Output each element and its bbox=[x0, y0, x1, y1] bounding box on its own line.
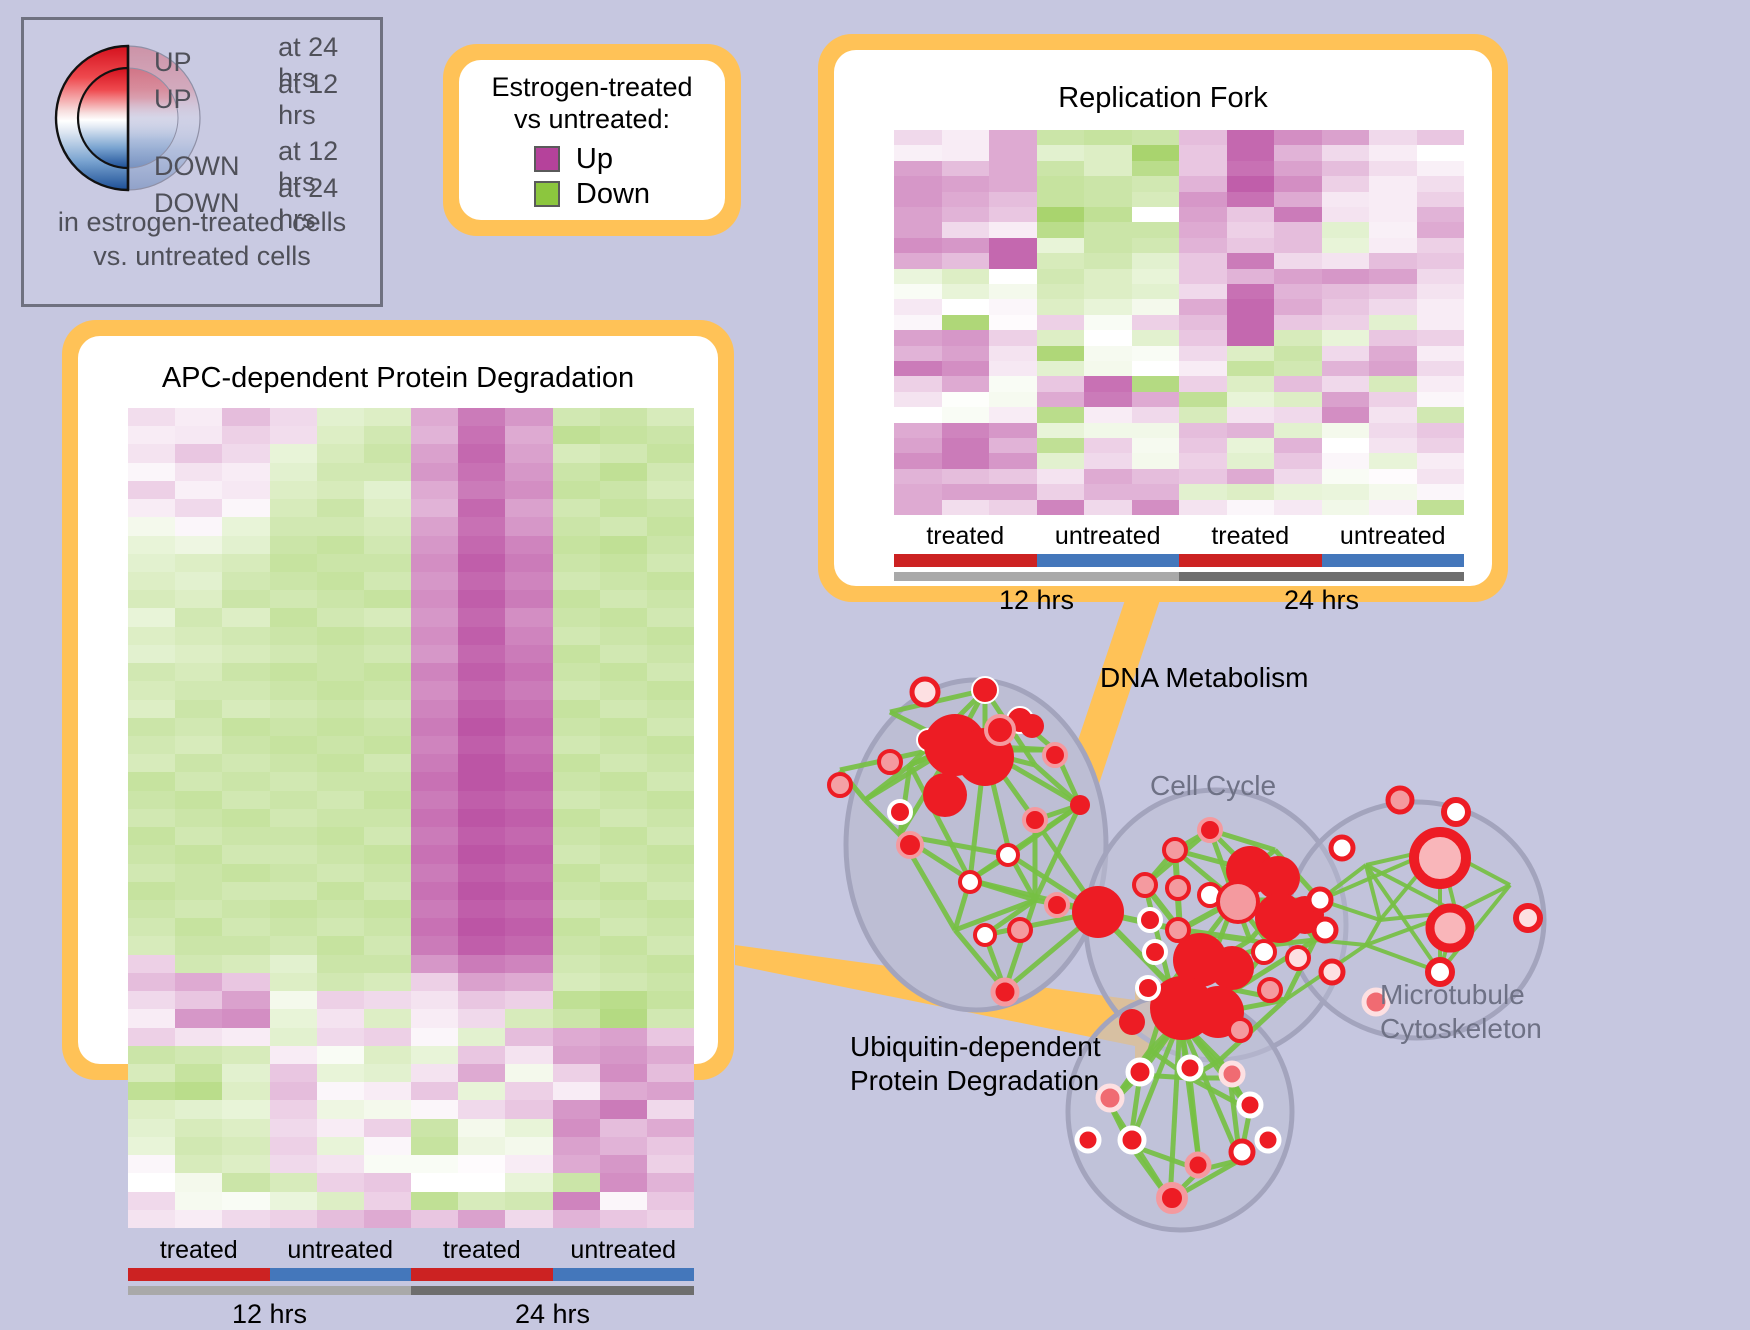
heatmap-cell bbox=[1227, 453, 1275, 468]
up-down-legend-title: Estrogen-treated vs untreated: bbox=[491, 72, 692, 136]
heatmap-cell bbox=[175, 718, 222, 736]
heatmap-cell bbox=[317, 700, 364, 718]
heatmap-cell bbox=[175, 1192, 222, 1210]
heatmap-cell bbox=[175, 681, 222, 699]
heatmap-cell bbox=[1369, 315, 1417, 330]
heatmap-cell bbox=[553, 736, 600, 754]
heatmap-cell bbox=[317, 718, 364, 736]
legend-item-up: Up bbox=[534, 142, 650, 177]
group-label: untreated bbox=[1037, 522, 1180, 551]
heatmap-cell bbox=[894, 453, 942, 468]
heatmap-cell bbox=[1369, 346, 1417, 361]
functional-module-network: DNA Metabolism Cell Cycle Microtubule Cy… bbox=[780, 600, 1750, 1279]
heatmap-cell bbox=[505, 973, 552, 991]
heatmap-cell bbox=[222, 1064, 269, 1082]
heatmap-cell bbox=[222, 645, 269, 663]
heatmap-cell bbox=[458, 1119, 505, 1137]
heatmap-cell bbox=[1037, 361, 1085, 376]
heatmap-cell bbox=[364, 1064, 411, 1082]
heatmap-cell bbox=[647, 718, 694, 736]
heatmap-cell bbox=[505, 444, 552, 462]
heatmap-cell bbox=[505, 463, 552, 481]
heatmap-cell bbox=[222, 900, 269, 918]
heatmap-cell bbox=[600, 882, 647, 900]
heatmap-cell bbox=[222, 1137, 269, 1155]
heatmap-cell bbox=[1037, 192, 1085, 207]
heatmap-cell bbox=[175, 608, 222, 626]
heatmap-cell bbox=[1179, 176, 1227, 191]
heatmap-cell bbox=[1322, 207, 1370, 222]
heatmap-cell bbox=[1274, 238, 1322, 253]
network-node bbox=[1331, 837, 1353, 859]
heatmap-cell bbox=[175, 444, 222, 462]
heatmap-cell bbox=[270, 1064, 317, 1082]
heatmap-cell bbox=[553, 608, 600, 626]
heatmap-cell bbox=[553, 973, 600, 991]
heatmap-cell bbox=[411, 772, 458, 790]
heatmap-cell bbox=[1132, 376, 1180, 391]
network-node bbox=[1044, 744, 1066, 766]
heatmap-cell bbox=[128, 1046, 175, 1064]
heatmap-cell bbox=[553, 827, 600, 845]
heatmap-cell bbox=[458, 845, 505, 863]
heatmap-cell bbox=[317, 1064, 364, 1082]
heatmap-cell bbox=[989, 315, 1037, 330]
heatmap-cell bbox=[1322, 315, 1370, 330]
heatmap-cell bbox=[1084, 423, 1132, 438]
heatmap-cell bbox=[600, 991, 647, 1009]
heatmap-cell bbox=[411, 517, 458, 535]
time-label: 24 hrs bbox=[411, 1299, 694, 1330]
heatmap-cell bbox=[1179, 130, 1227, 145]
heatmap-cell bbox=[647, 627, 694, 645]
heatmap-cell bbox=[894, 407, 942, 422]
heatmap-cell bbox=[175, 754, 222, 772]
group-label: treated bbox=[128, 1236, 270, 1265]
heatmap-cell bbox=[1274, 222, 1322, 237]
heatmap-cell bbox=[1227, 284, 1275, 299]
heatmap-cell bbox=[1322, 330, 1370, 345]
heatmap-cell bbox=[505, 499, 552, 517]
heatmap-cell bbox=[1084, 330, 1132, 345]
heatmap-cell bbox=[411, 1192, 458, 1210]
heatmap-cell bbox=[364, 918, 411, 936]
heatmap-cell bbox=[1417, 299, 1465, 314]
heatmap-cell bbox=[1227, 176, 1275, 191]
heatmap-cell bbox=[600, 900, 647, 918]
heatmap-cell bbox=[270, 936, 317, 954]
heatmap-cell bbox=[1417, 269, 1465, 284]
heatmap-cell bbox=[364, 1082, 411, 1100]
heatmap-cell bbox=[647, 608, 694, 626]
heatmap-cell bbox=[1322, 438, 1370, 453]
heatmap-cell bbox=[553, 426, 600, 444]
expression-key-legend: UP at 24 hrs UP at 12 hrs DOWN at 12 hrs… bbox=[21, 17, 383, 307]
heatmap-cell bbox=[1084, 315, 1132, 330]
heatmap-cell bbox=[1179, 346, 1227, 361]
heatmap-cell bbox=[458, 973, 505, 991]
heatmap-cell bbox=[411, 1009, 458, 1027]
heatmap-cell bbox=[175, 1210, 222, 1228]
heatmap-cell bbox=[647, 864, 694, 882]
heatmap-cell bbox=[1369, 192, 1417, 207]
heatmap-cell bbox=[222, 444, 269, 462]
heatmap-cell bbox=[1369, 161, 1417, 176]
heatmap-cell bbox=[1417, 469, 1465, 484]
heatmap-cell bbox=[1417, 330, 1465, 345]
key-time: at 12 hrs bbox=[278, 69, 380, 131]
heatmap-cell bbox=[364, 772, 411, 790]
heatmap-cell bbox=[647, 900, 694, 918]
heatmap-cell bbox=[1227, 438, 1275, 453]
heatmap-cell bbox=[270, 718, 317, 736]
heatmap-cell bbox=[458, 408, 505, 426]
heatmap-cell bbox=[1132, 269, 1180, 284]
heatmap-cell bbox=[647, 700, 694, 718]
heatmap-cell bbox=[1417, 253, 1465, 268]
heatmap-cell bbox=[1369, 130, 1417, 145]
heatmap-cell bbox=[222, 663, 269, 681]
heatmap-cell bbox=[458, 936, 505, 954]
network-node bbox=[986, 716, 1014, 744]
heatmap-cell bbox=[505, 645, 552, 663]
heatmap-cell bbox=[1274, 453, 1322, 468]
heatmap-cell bbox=[270, 736, 317, 754]
heatmap-cell bbox=[128, 1082, 175, 1100]
key-row: UP at 12 hrs bbox=[154, 81, 380, 118]
network-node bbox=[1164, 839, 1186, 861]
heatmap-cell bbox=[1274, 269, 1322, 284]
heatmap-cell bbox=[1084, 469, 1132, 484]
heatmap-cell bbox=[175, 590, 222, 608]
heatmap-cell bbox=[647, 955, 694, 973]
network-node bbox=[1287, 947, 1309, 969]
heatmap-cell bbox=[1274, 469, 1322, 484]
heatmap-cell bbox=[553, 936, 600, 954]
heatmap-cell bbox=[647, 645, 694, 663]
heatmap-cell bbox=[270, 481, 317, 499]
heatmap-cell bbox=[317, 517, 364, 535]
heatmap-cell bbox=[222, 809, 269, 827]
heatmap-cell bbox=[411, 1173, 458, 1191]
heatmap-cell bbox=[553, 718, 600, 736]
heatmap-cell bbox=[1037, 161, 1085, 176]
legend-item-down-label: Down bbox=[576, 178, 650, 211]
heatmap-cell bbox=[364, 809, 411, 827]
heatmap-cell bbox=[1037, 176, 1085, 191]
heatmap-cell bbox=[411, 1119, 458, 1137]
apc-dependent-sample-bands: treated untreated treated untreated 12 h… bbox=[128, 1236, 694, 1330]
heatmap-cell bbox=[942, 330, 990, 345]
network-node bbox=[1321, 961, 1343, 983]
heatmap-cell bbox=[600, 1046, 647, 1064]
group-color-treated bbox=[894, 554, 1037, 567]
heatmap-cell bbox=[1274, 299, 1322, 314]
heatmap-cell bbox=[989, 130, 1037, 145]
heatmap-cell bbox=[411, 663, 458, 681]
heatmap-cell bbox=[1037, 346, 1085, 361]
heatmap-cell bbox=[270, 627, 317, 645]
heatmap-cell bbox=[647, 1119, 694, 1137]
heatmap-cell bbox=[1084, 438, 1132, 453]
heatmap-cell bbox=[1322, 376, 1370, 391]
heatmap-cell bbox=[894, 392, 942, 407]
heatmap-cell bbox=[411, 736, 458, 754]
heatmap-cell bbox=[894, 222, 942, 237]
heatmap-cell bbox=[1179, 500, 1227, 515]
heatmap-cell bbox=[411, 700, 458, 718]
heatmap-cell bbox=[1369, 330, 1417, 345]
time-color-24hrs bbox=[1179, 572, 1464, 581]
expression-key-rows: UP at 24 hrs UP at 12 hrs DOWN at 12 hrs… bbox=[154, 44, 380, 222]
heatmap-cell bbox=[175, 1137, 222, 1155]
heatmap-cell bbox=[128, 1028, 175, 1046]
heatmap-cell bbox=[942, 469, 990, 484]
heatmap-cell bbox=[317, 536, 364, 554]
heatmap-cell bbox=[942, 192, 990, 207]
heatmap-cell bbox=[317, 1210, 364, 1228]
heatmap-cell bbox=[647, 1192, 694, 1210]
heatmap-cell bbox=[600, 1009, 647, 1027]
heatmap-cell bbox=[647, 426, 694, 444]
heatmap-cell bbox=[1084, 407, 1132, 422]
heatmap-cell bbox=[222, 499, 269, 517]
heatmap-cell bbox=[317, 608, 364, 626]
heatmap-cell bbox=[270, 1137, 317, 1155]
network-node bbox=[1072, 886, 1124, 938]
heatmap-cell bbox=[1274, 207, 1322, 222]
heatmap-cell bbox=[175, 1173, 222, 1191]
heatmap-cell bbox=[1417, 315, 1465, 330]
heatmap-cell bbox=[1369, 238, 1417, 253]
heatmap-cell bbox=[942, 207, 990, 222]
network-node bbox=[1128, 1060, 1152, 1084]
heatmap-cell bbox=[505, 991, 552, 1009]
heatmap-cell bbox=[317, 463, 364, 481]
heatmap-cell bbox=[600, 1119, 647, 1137]
heatmap-cell bbox=[175, 1064, 222, 1082]
heatmap-cell bbox=[175, 700, 222, 718]
heatmap-cell bbox=[458, 1100, 505, 1118]
heatmap-cell bbox=[553, 1173, 600, 1191]
heatmap-cell bbox=[600, 1137, 647, 1155]
heatmap-cell bbox=[411, 590, 458, 608]
heatmap-cell bbox=[222, 463, 269, 481]
heatmap-cell bbox=[1037, 253, 1085, 268]
heatmap-cell bbox=[1417, 192, 1465, 207]
heatmap-cell bbox=[458, 499, 505, 517]
heatmap-cell bbox=[1227, 253, 1275, 268]
heatmap-cell bbox=[128, 517, 175, 535]
heatmap-cell bbox=[411, 718, 458, 736]
heatmap-cell bbox=[411, 481, 458, 499]
heatmap-cell bbox=[1179, 330, 1227, 345]
heatmap-cell bbox=[1084, 222, 1132, 237]
heatmap-cell bbox=[364, 1192, 411, 1210]
heatmap-cell bbox=[222, 991, 269, 1009]
heatmap-cell bbox=[1132, 176, 1180, 191]
heatmap-cell bbox=[411, 754, 458, 772]
heatmap-cell bbox=[128, 499, 175, 517]
heatmap-cell bbox=[600, 590, 647, 608]
heatmap-cell bbox=[989, 299, 1037, 314]
heatmap-cell bbox=[270, 444, 317, 462]
heatmap-cell bbox=[222, 1028, 269, 1046]
heatmap-cell bbox=[1179, 222, 1227, 237]
heatmap-cell bbox=[411, 499, 458, 517]
heatmap-cell bbox=[647, 1028, 694, 1046]
heatmap-cell bbox=[1179, 284, 1227, 299]
heatmap-cell bbox=[1084, 253, 1132, 268]
heatmap-cell bbox=[458, 663, 505, 681]
heatmap-cell bbox=[647, 444, 694, 462]
heatmap-cell bbox=[222, 1100, 269, 1118]
heatmap-cell bbox=[1417, 361, 1465, 376]
heatmap-cell bbox=[1179, 392, 1227, 407]
heatmap-cell bbox=[128, 864, 175, 882]
heatmap-cell bbox=[411, 1064, 458, 1082]
heatmap-cell bbox=[1369, 423, 1417, 438]
key-footer-line2: vs. untreated cells bbox=[24, 240, 380, 274]
heatmap-cell bbox=[222, 554, 269, 572]
heatmap-cell bbox=[1322, 392, 1370, 407]
group-color-untreated bbox=[270, 1268, 412, 1281]
group-label: untreated bbox=[553, 1236, 695, 1265]
heatmap-cell bbox=[553, 1192, 600, 1210]
heatmap-cell bbox=[505, 1155, 552, 1173]
heatmap-cell bbox=[1322, 238, 1370, 253]
heatmap-cell bbox=[1132, 253, 1180, 268]
heatmap-cell bbox=[270, 1028, 317, 1046]
network-svg bbox=[780, 600, 1750, 1279]
heatmap-cell bbox=[1274, 161, 1322, 176]
cluster-label-cell-cycle: Cell Cycle bbox=[1150, 770, 1276, 802]
heatmap-cell bbox=[222, 627, 269, 645]
heatmap-cell bbox=[411, 444, 458, 462]
heatmap-cell bbox=[128, 918, 175, 936]
heatmap-cell bbox=[553, 1119, 600, 1137]
heatmap-cell bbox=[505, 809, 552, 827]
cluster-label-line1: Ubiquitin-dependent bbox=[850, 1030, 1101, 1064]
heatmap-cell bbox=[270, 608, 317, 626]
heatmap-cell bbox=[553, 1100, 600, 1118]
heatmap-cell bbox=[128, 1155, 175, 1173]
heatmap-cell bbox=[942, 346, 990, 361]
heatmap-cell bbox=[1132, 423, 1180, 438]
heatmap-cell bbox=[1084, 346, 1132, 361]
heatmap-cell bbox=[600, 554, 647, 572]
heatmap-cell bbox=[1369, 361, 1417, 376]
heatmap-cell bbox=[553, 772, 600, 790]
heatmap-cell bbox=[989, 484, 1037, 499]
heatmap-cell bbox=[553, 1028, 600, 1046]
heatmap-cell bbox=[270, 1100, 317, 1118]
heatmap-cell bbox=[175, 1009, 222, 1027]
heatmap-cell bbox=[458, 1046, 505, 1064]
heatmap-cell bbox=[942, 284, 990, 299]
heatmap-cell bbox=[894, 330, 942, 345]
heatmap-cell bbox=[128, 718, 175, 736]
heatmap-cell bbox=[600, 444, 647, 462]
heatmap-cell bbox=[270, 1173, 317, 1191]
heatmap-cell bbox=[317, 754, 364, 772]
heatmap-cell bbox=[222, 772, 269, 790]
heatmap-cell bbox=[1274, 392, 1322, 407]
heatmap-cell bbox=[458, 590, 505, 608]
heatmap-cell bbox=[458, 1192, 505, 1210]
heatmap-cell bbox=[364, 973, 411, 991]
heatmap-cell bbox=[989, 284, 1037, 299]
heatmap-cell bbox=[270, 864, 317, 882]
heatmap-cell bbox=[647, 1137, 694, 1155]
heatmap-cell bbox=[1179, 192, 1227, 207]
heatmap-cell bbox=[1179, 238, 1227, 253]
heatmap-cell bbox=[317, 681, 364, 699]
network-node bbox=[1070, 795, 1090, 815]
heatmap-cell bbox=[1417, 423, 1465, 438]
heatmap-cell bbox=[270, 900, 317, 918]
heatmap-cell bbox=[553, 554, 600, 572]
network-node bbox=[1139, 909, 1161, 931]
heatmap-cell bbox=[989, 423, 1037, 438]
heatmap-cell bbox=[411, 1046, 458, 1064]
heatmap-cell bbox=[1322, 161, 1370, 176]
heatmap-cell bbox=[1132, 145, 1180, 160]
heatmap-cell bbox=[175, 864, 222, 882]
heatmap-cell bbox=[1274, 330, 1322, 345]
heatmap-cell bbox=[942, 253, 990, 268]
heatmap-cell bbox=[989, 376, 1037, 391]
heatmap-cell bbox=[128, 627, 175, 645]
heatmap-cell bbox=[222, 718, 269, 736]
key-direction: UP bbox=[154, 84, 278, 115]
group-color-treated bbox=[128, 1268, 270, 1281]
heatmap-cell bbox=[364, 955, 411, 973]
heatmap-cell bbox=[942, 269, 990, 284]
cluster-label-line1: Microtubule bbox=[1380, 978, 1542, 1012]
heatmap-cell bbox=[128, 426, 175, 444]
heatmap-cell bbox=[647, 1064, 694, 1082]
heatmap-cell bbox=[1417, 484, 1465, 499]
heatmap-cell bbox=[458, 1173, 505, 1191]
heatmap-cell bbox=[1037, 407, 1085, 422]
heatmap-cell bbox=[270, 645, 317, 663]
heatmap-cell bbox=[458, 791, 505, 809]
heatmap-cell bbox=[175, 955, 222, 973]
heatmap-cell bbox=[128, 791, 175, 809]
heatmap-cell bbox=[1132, 192, 1180, 207]
heatmap-cell bbox=[894, 438, 942, 453]
network-node bbox=[889, 801, 911, 823]
heatmap-cell bbox=[1132, 222, 1180, 237]
heatmap-cell bbox=[894, 284, 942, 299]
heatmap-cell bbox=[1322, 484, 1370, 499]
heatmap-cell bbox=[1227, 192, 1275, 207]
heatmap-cell bbox=[222, 918, 269, 936]
heatmap-cell bbox=[458, 554, 505, 572]
heatmap-cell bbox=[458, 864, 505, 882]
heatmap-cell bbox=[128, 936, 175, 954]
heatmap-cell bbox=[1132, 207, 1180, 222]
heatmap-cell bbox=[1132, 500, 1180, 515]
network-node bbox=[1253, 941, 1275, 963]
heatmap-cell bbox=[1037, 484, 1085, 499]
heatmap-cell bbox=[364, 426, 411, 444]
heatmap-cell bbox=[458, 517, 505, 535]
network-node bbox=[1137, 977, 1159, 999]
network-node bbox=[1077, 1129, 1099, 1151]
heatmap-cell bbox=[505, 772, 552, 790]
